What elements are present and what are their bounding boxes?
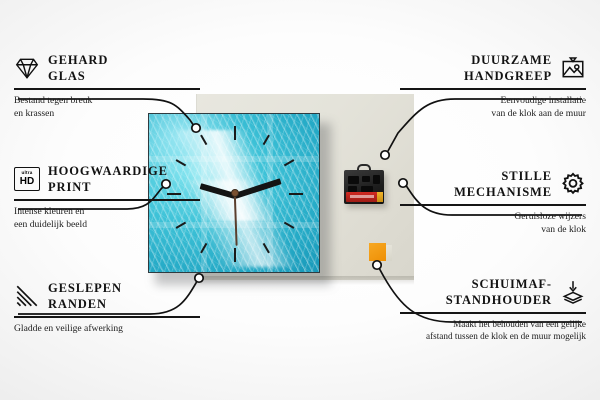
feature-title-line2: PRINT [48, 179, 168, 195]
feature-title-line1: HOOGWAARDIGE [48, 163, 168, 179]
feature-geslepen-randen: GESLEPEN RANDEN Gladde en veilige afwerk… [14, 280, 200, 335]
feature-divider [400, 88, 586, 90]
connector-node-gehard-glas [192, 124, 200, 132]
feature-divider [400, 312, 586, 314]
feature-title-line2: STANDHOUDER [446, 292, 552, 308]
feature-title: DUURZAME HANDGREEP [464, 52, 552, 84]
feature-title: STILLE MECHANISME [454, 168, 552, 200]
ultra-hd-icon-main-text: HD [20, 177, 34, 187]
feature-desc-line1: Gladde en veilige afwerking [14, 322, 200, 335]
picture-hanger-icon [560, 55, 586, 81]
feature-desc-line1: Eenvoudige installatie [400, 94, 586, 107]
feature-title: SCHUIMAF- STANDHOUDER [446, 276, 552, 308]
infographic-canvas: GEHARD GLAS Bestand tegen breuk en krass… [0, 0, 600, 400]
feature-desc-line1: Intense kleuren en [14, 205, 200, 218]
feature-desc-line2: en krassen [14, 107, 200, 120]
feature-stille-mechanisme: STILLE MECHANISME Geruisloze wijzers van… [400, 168, 586, 236]
feature-desc-line1: Bestand tegen breuk [14, 94, 200, 107]
feature-header: DUURZAME HANDGREEP [400, 52, 586, 84]
feature-title: HOOGWAARDIGE PRINT [48, 163, 168, 195]
feature-divider [14, 88, 200, 90]
feature-description: Intense kleuren en een duidelijk beeld [14, 205, 200, 231]
connector-node-foam [373, 261, 381, 269]
feature-title-line1: STILLE [454, 168, 552, 184]
feature-header: SCHUIMAF- STANDHOUDER [400, 276, 586, 308]
feature-desc-line2: van de klok [400, 223, 586, 236]
feature-title-line1: GESLEPEN [48, 280, 122, 296]
feature-header: STILLE MECHANISME [400, 168, 586, 200]
beveled-edge-icon [14, 283, 40, 309]
feature-description: Geruisloze wijzers van de klok [400, 210, 586, 236]
feature-desc-line1: Maakt het behouden van een gelijke [400, 318, 586, 331]
feature-header: GESLEPEN RANDEN [14, 280, 200, 312]
gear-icon [560, 171, 586, 197]
feature-description: Bestand tegen breuk en krassen [14, 94, 200, 120]
ultra-hd-icon: ultra HD [14, 167, 40, 191]
feature-title-line2: MECHANISME [454, 184, 552, 200]
feature-duurzame-handgreep: DUURZAME HANDGREEP Eenvoudige installati… [400, 52, 586, 120]
feature-header: GEHARD GLAS [14, 52, 200, 84]
feature-header: ultra HD HOOGWAARDIGE PRINT [14, 163, 200, 195]
feature-desc-line2: afstand tussen de klok en de muur mogeli… [400, 330, 586, 343]
feature-title: GEHARD GLAS [48, 52, 108, 84]
diamond-icon [14, 55, 40, 81]
connector-node-handgreep [381, 151, 389, 159]
feature-title-line1: SCHUIMAF- [446, 276, 552, 292]
feature-gehard-glas: GEHARD GLAS Bestand tegen breuk en krass… [14, 52, 200, 120]
feature-description: Gladde en veilige afwerking [14, 322, 200, 335]
feature-hoogwaardige-print: ultra HD HOOGWAARDIGE PRINT Intense kleu… [14, 163, 200, 231]
feature-divider [14, 199, 200, 201]
feature-title-line2: RANDEN [48, 296, 122, 312]
feature-title-line2: GLAS [48, 68, 108, 84]
feature-desc-line2: van de klok aan de muur [400, 107, 586, 120]
feature-title-line1: DUURZAME [464, 52, 552, 68]
feature-divider [400, 204, 586, 206]
feature-title: GESLEPEN RANDEN [48, 280, 122, 312]
feature-desc-line1: Geruisloze wijzers [400, 210, 586, 223]
feature-divider [14, 316, 200, 318]
feature-schuimafstandhouder: SCHUIMAF- STANDHOUDER Maakt het behouden… [400, 276, 586, 343]
feature-description: Eenvoudige installatie van de klok aan d… [400, 94, 586, 120]
spacer-stack-icon [560, 279, 586, 305]
feature-title-line1: GEHARD [48, 52, 108, 68]
feature-title-line2: HANDGREEP [464, 68, 552, 84]
feature-desc-line2: een duidelijk beeld [14, 218, 200, 231]
feature-description: Maakt het behouden van een gelijke afsta… [400, 318, 586, 343]
